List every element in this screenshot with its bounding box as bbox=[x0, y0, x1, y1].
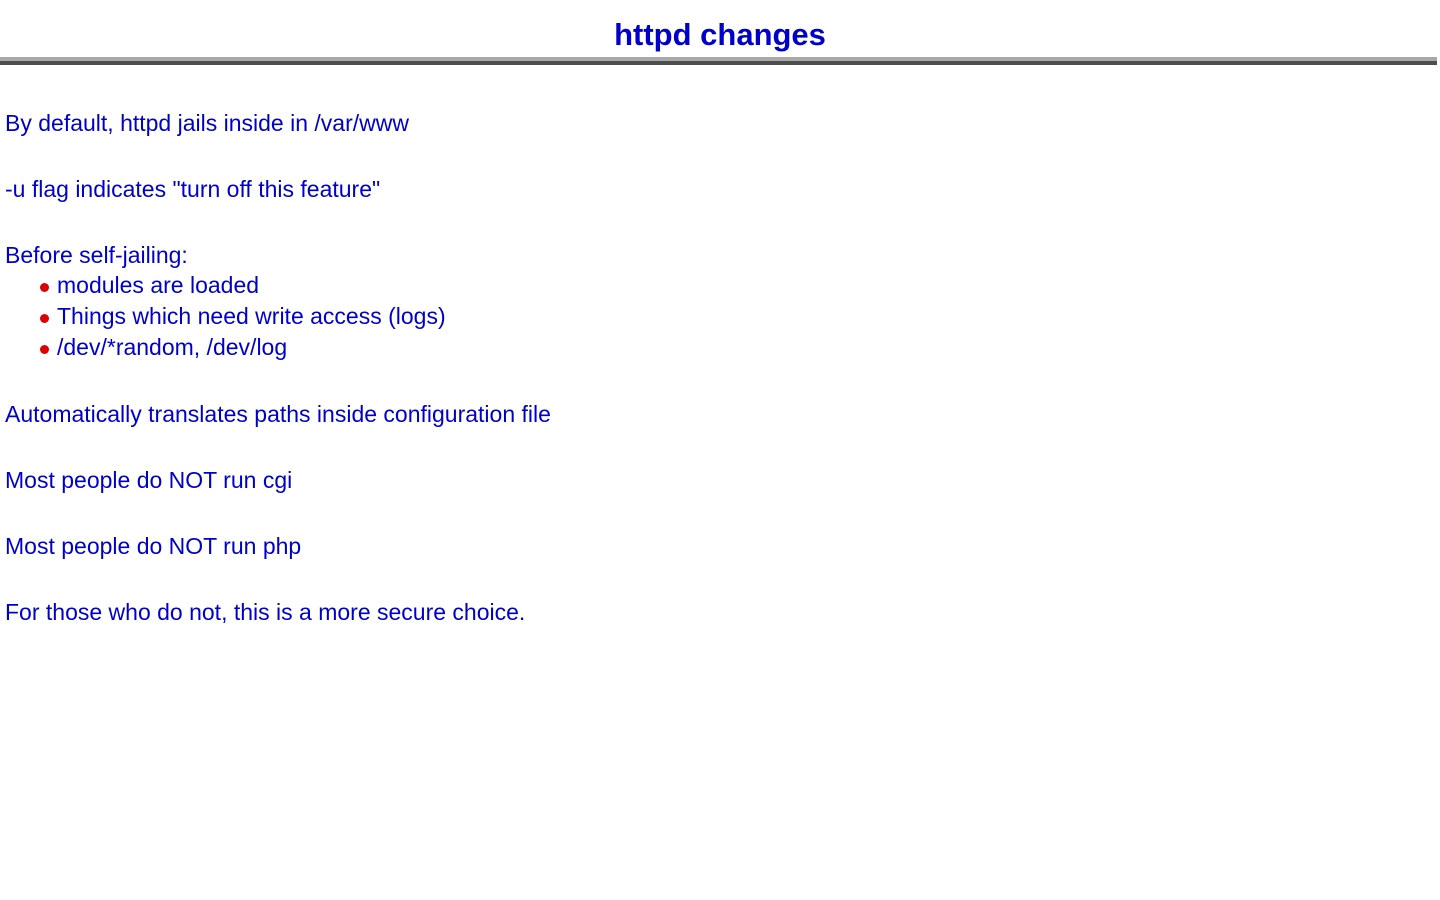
list-item-label: Things which need write access (logs) bbox=[57, 303, 446, 329]
paragraph-not-run-php: Most people do NOT run php bbox=[5, 531, 1435, 561]
paragraph-u-flag: -u flag indicates "turn off this feature… bbox=[5, 174, 1435, 204]
before-self-jailing-list: modules are loaded Things which need wri… bbox=[5, 270, 1435, 363]
divider-shadow-band bbox=[0, 61, 1437, 65]
bullet-disc-icon bbox=[40, 314, 49, 323]
paragraph-before-self-jailing: Before self-jailing: bbox=[5, 240, 1435, 270]
page-title: httpd changes bbox=[0, 17, 1440, 53]
slide-body: By default, httpd jails inside in /var/w… bbox=[5, 108, 1435, 627]
paragraph-translates-paths: Automatically translates paths inside co… bbox=[5, 399, 1435, 429]
slide-root: httpd changes By default, httpd jails in… bbox=[0, 0, 1440, 900]
list-item-label: modules are loaded bbox=[57, 272, 259, 298]
paragraph-not-run-cgi: Most people do NOT run cgi bbox=[5, 465, 1435, 495]
bullet-disc-icon bbox=[40, 345, 49, 354]
list-item: /dev/*random, /dev/log bbox=[5, 332, 1435, 363]
paragraph-default-jail: By default, httpd jails inside in /var/w… bbox=[5, 108, 1435, 138]
list-item-label: /dev/*random, /dev/log bbox=[57, 334, 287, 360]
list-item: Things which need write access (logs) bbox=[5, 301, 1435, 332]
title-divider bbox=[0, 57, 1437, 65]
paragraph-more-secure-choice: For those who do not, this is a more sec… bbox=[5, 597, 1435, 627]
bullet-disc-icon bbox=[40, 283, 49, 292]
list-item: modules are loaded bbox=[5, 270, 1435, 301]
